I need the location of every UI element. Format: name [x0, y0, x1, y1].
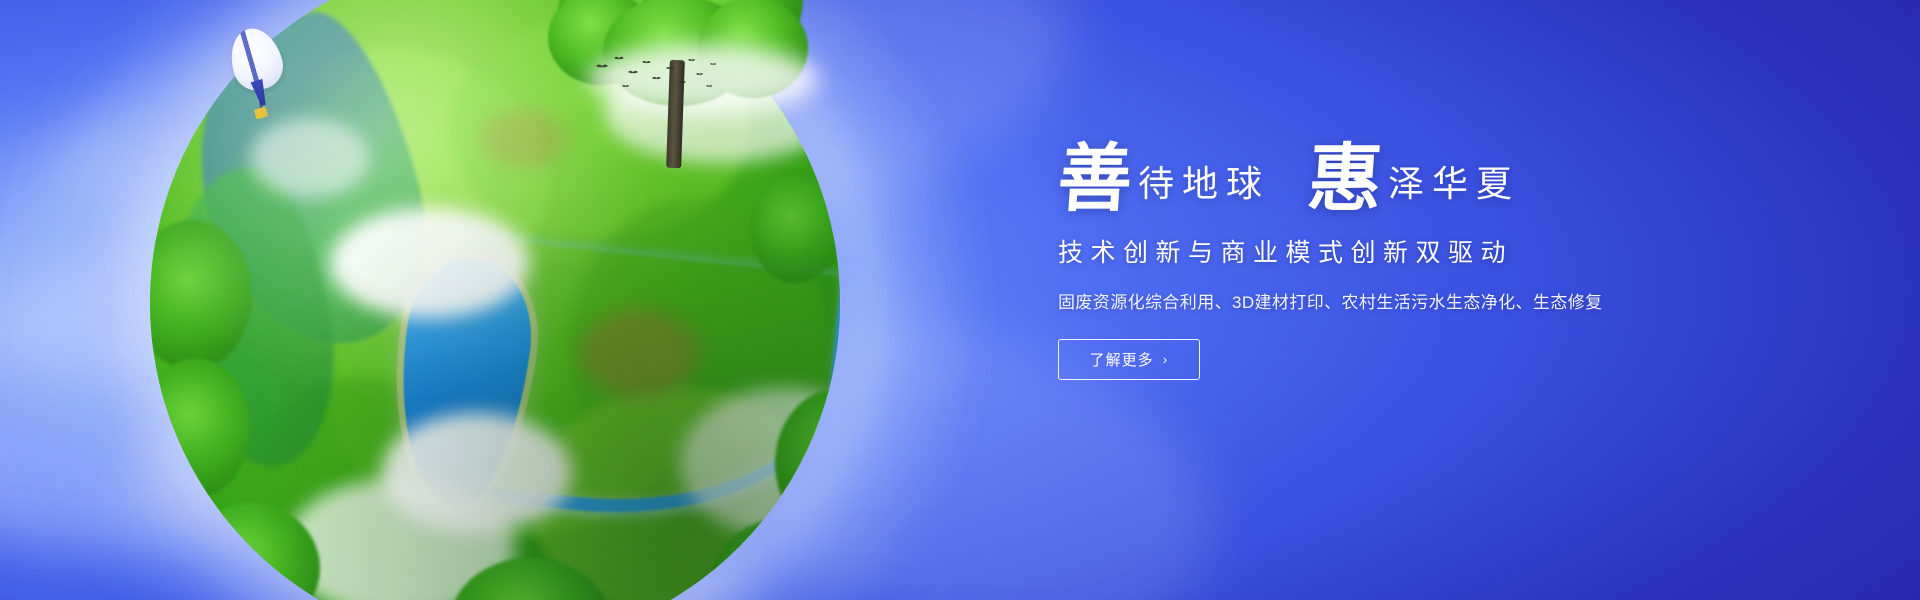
cloud	[285, 478, 515, 600]
learn-more-label: 了解更多	[1090, 349, 1154, 370]
headline-rest-1: 待地球	[1138, 167, 1270, 203]
headline-rest-2: 泽华夏	[1388, 167, 1520, 203]
headline-group-1: 善 待地球	[1058, 140, 1270, 207]
balloon-basket	[254, 107, 268, 120]
hero-copy: 善 待地球 惠 泽华夏 技术创新与商业模式创新双驱动 固废资源化综合利用、3D建…	[1058, 140, 1678, 380]
headline-accent-char-2: 惠	[1306, 146, 1385, 213]
grass-patch	[240, 378, 490, 600]
lake	[383, 251, 542, 516]
cloud	[330, 208, 530, 318]
page-description: 固废资源化综合利用、3D建材打印、农村生活污水生态净化、生态修复	[1058, 288, 1678, 313]
page-subtitle: 技术创新与商业模式创新双驱动	[1058, 233, 1678, 269]
hero-tree	[548, 0, 808, 198]
headline-accent-char-1: 善	[1056, 146, 1135, 213]
soil-patch	[580, 308, 700, 398]
mountain-ridge	[168, 0, 452, 369]
grass-patch	[330, 258, 690, 538]
bird-flock-icon	[592, 52, 722, 96]
rim-tree	[450, 558, 610, 600]
rim-tree	[150, 220, 252, 370]
learn-more-button[interactable]: 了解更多 ›	[1058, 339, 1200, 380]
headline-group-2: 惠 泽华夏	[1308, 140, 1520, 207]
rim-tree	[180, 503, 320, 600]
rim-tree	[150, 358, 250, 498]
cloud	[382, 413, 572, 533]
mountain-ridge	[160, 159, 350, 477]
chevron-right-icon: ›	[1163, 352, 1169, 366]
hero-banner: 善 待地球 惠 泽华夏 技术创新与商业模式创新双驱动 固废资源化综合利用、3D建…	[0, 0, 1920, 600]
page-title: 善 待地球 惠 泽华夏	[1058, 140, 1678, 207]
hot-air-balloon-icon	[231, 28, 281, 136]
grass-patch	[570, 198, 830, 498]
